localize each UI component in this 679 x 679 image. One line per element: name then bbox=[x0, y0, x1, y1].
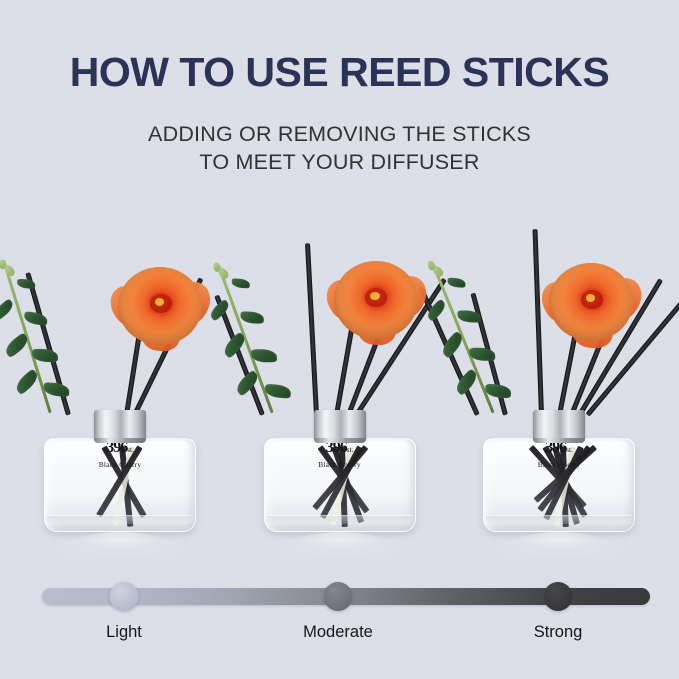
bottle: 396st. Black Cherry bbox=[14, 410, 226, 555]
arrangement-moderate bbox=[234, 215, 446, 415]
leaf bbox=[485, 384, 512, 399]
leaf bbox=[32, 349, 58, 362]
diffuser-strong[interactable]: 396st. Black Cherry bbox=[453, 215, 665, 555]
reed-stick bbox=[305, 243, 319, 415]
header: HOW TO USE REED STICKS ADDING OR REMOVIN… bbox=[0, 0, 679, 176]
slider-labels: Light Moderate Strong bbox=[0, 623, 679, 653]
slider-knob-light[interactable] bbox=[110, 582, 139, 611]
bottle-reflection bbox=[56, 532, 184, 556]
rose-flower bbox=[334, 261, 418, 339]
bottle-reflection bbox=[276, 532, 404, 556]
bottle-cap bbox=[314, 410, 366, 440]
leaf bbox=[240, 311, 264, 324]
brand-suffix: st. bbox=[566, 446, 572, 454]
bottle-label: 396st. Black Cherry bbox=[14, 440, 226, 469]
scent-name: Black Cherry bbox=[234, 460, 446, 469]
leaf bbox=[0, 298, 16, 320]
diffuser-moderate[interactable]: 396st. Black Cherry bbox=[234, 215, 446, 555]
bottle-cap bbox=[533, 410, 585, 440]
arrangement-light bbox=[14, 215, 226, 415]
intensity-slider[interactable]: Light Moderate Strong bbox=[0, 575, 679, 665]
brand-suffix: st. bbox=[347, 446, 353, 454]
bottle-reflection bbox=[495, 532, 623, 556]
slider-label-light: Light bbox=[106, 623, 142, 642]
page-subtitle: ADDING OR REMOVING THE STICKS TO MEET YO… bbox=[0, 121, 679, 176]
bottle: 396st. Black Cherry bbox=[453, 410, 665, 555]
page-title: HOW TO USE REED STICKS bbox=[0, 52, 679, 93]
leaf bbox=[231, 278, 250, 288]
leaf bbox=[23, 311, 48, 326]
bottle: 396st. Black Cherry bbox=[234, 410, 446, 555]
slider-label-strong: Strong bbox=[534, 623, 583, 642]
bottle-label: 396st. Black Cherry bbox=[453, 440, 665, 469]
bottle-label: 396st. Black Cherry bbox=[234, 440, 446, 469]
leaf bbox=[13, 368, 41, 395]
rose-flower bbox=[549, 263, 633, 341]
slider-knob-moderate[interactable] bbox=[324, 582, 353, 611]
slider-knob-strong[interactable] bbox=[544, 582, 573, 611]
arrangement-strong bbox=[453, 215, 665, 415]
leaf bbox=[264, 384, 291, 399]
rose-flower bbox=[118, 267, 202, 345]
bottle-cap bbox=[94, 410, 146, 440]
flower-bud bbox=[0, 259, 6, 269]
product-row: 396st. Black Cherry bbox=[0, 215, 679, 555]
leaf bbox=[447, 278, 466, 288]
stamen bbox=[370, 292, 379, 300]
subtitle-line-2: TO MEET YOUR DIFFUSER bbox=[0, 149, 679, 177]
brand-suffix: st. bbox=[127, 446, 133, 454]
subtitle-line-1: ADDING OR REMOVING THE STICKS bbox=[0, 121, 679, 149]
scent-name: Black Cherry bbox=[14, 460, 226, 469]
reed-stick bbox=[533, 229, 544, 415]
scent-name: Black Cherry bbox=[453, 460, 665, 469]
slider-label-moderate: Moderate bbox=[303, 623, 373, 642]
leaf bbox=[469, 348, 495, 361]
leaf bbox=[43, 382, 70, 397]
leaf bbox=[2, 332, 31, 358]
diffuser-light[interactable]: 396st. Black Cherry bbox=[14, 215, 226, 555]
